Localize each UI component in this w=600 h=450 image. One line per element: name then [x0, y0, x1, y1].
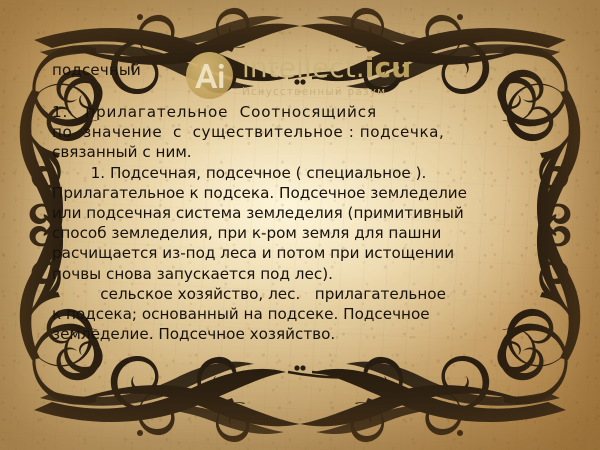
- sense-line: почвы снова запускается под лес).: [52, 264, 522, 284]
- sense-entry-1: 1. прилагательное Соотносящийся по значе…: [52, 102, 522, 163]
- parchment-page: intellect.icu Искусственный разум подсеч…: [0, 0, 600, 450]
- sense-line: земледелие. Подсечное хозяйство.: [52, 324, 522, 344]
- ornament-bottom-link: [288, 372, 342, 377]
- dictionary-article: подсечный 1. прилагательное Соотносящийс…: [52, 60, 522, 344]
- sense-line: сельское хозяйство, лес. прилагательное: [52, 284, 522, 304]
- sense-line: 1. прилагательное Соотносящийся: [52, 102, 522, 122]
- sense-line: 1. Подсечная, подсечное ( специальное ).: [52, 163, 522, 183]
- sense-line: или подсечная система земледелия (примит…: [52, 203, 522, 223]
- sense-line: способ земледелия, при к-ром земля для п…: [52, 223, 522, 243]
- headword: подсечный: [52, 60, 522, 80]
- sense-line: расчищается из-под леса и потом при исто…: [52, 243, 522, 263]
- sense-entry-2: 1. Подсечная, подсечное ( специальное ).…: [52, 163, 522, 284]
- sense-entry-3: сельское хозяйство, лес. прилагательное …: [52, 284, 522, 345]
- sense-line: Прилагательное к подсека. Подсечное земл…: [52, 183, 522, 203]
- sense-line: к подсека; основанный на подсеке. Подсеч…: [52, 304, 522, 324]
- sense-line: по значение с существительное : подсечка…: [52, 122, 522, 142]
- sense-line: связанный с ним.: [52, 142, 522, 162]
